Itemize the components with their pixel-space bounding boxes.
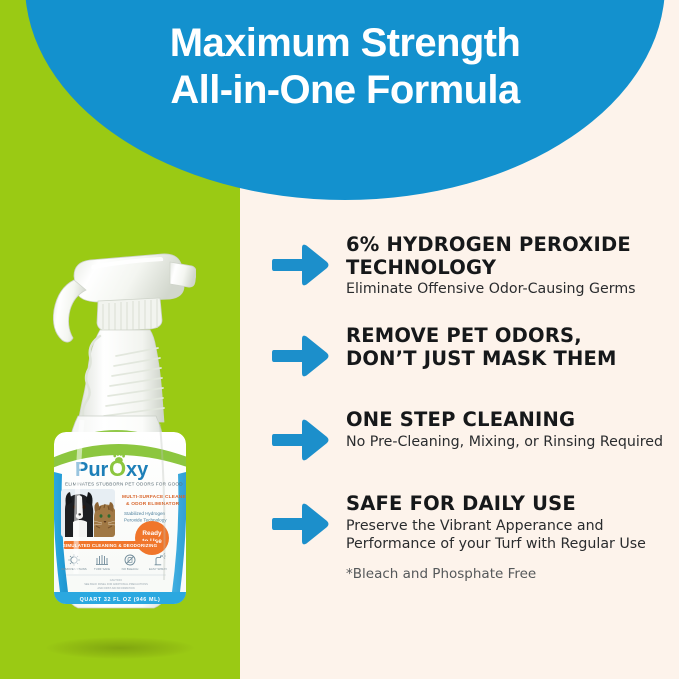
feature-heading-cont: TECHNOLOGY <box>346 257 672 280</box>
feature-heading: REMOVE PET ODORS, <box>346 325 672 348</box>
product-label: Pur O xy ELIMINATES STUBBORN PET ODORS F… <box>52 432 190 606</box>
feature-heading: 6% HYDROGEN PEROXIDE <box>346 234 672 257</box>
label-subtitle-line2: & ODOR ELIMINATOR <box>126 501 180 507</box>
feature-subtext: Eliminate Offensive Odor-Causing Germs <box>346 281 672 299</box>
feature-heading: ONE STEP CLEANING <box>346 409 672 432</box>
feature-heading-cont: DON’T JUST MASK THEM <box>346 348 672 371</box>
brand-text-xy: xy <box>126 459 149 481</box>
spray-trigger-head <box>53 254 196 342</box>
svg-text:AND FIRST AID INFORMATION: AND FIRST AID INFORMATION <box>97 586 134 590</box>
arrow-right-icon <box>272 493 334 547</box>
label-tech-line1: Stabilized Hydrogen <box>124 511 166 516</box>
label-tagline: ELIMINATES STUBBORN PET ODORS FOR GOOD <box>65 482 183 487</box>
label-tech-line2: Peroxide Technology <box>124 518 167 523</box>
feature-label-1: TURF SAFE <box>94 567 110 571</box>
dog-and-cat-photo <box>61 489 115 537</box>
feature-label-2: NO BLEACH <box>122 567 139 571</box>
features-list: 6% HYDROGEN PEROXIDE TECHNOLOGY Eliminat… <box>272 234 672 582</box>
header-title-block: Maximum Strength All-in-One Formula <box>25 0 665 200</box>
svg-text:SEE BACK PANEL FOR ADDITIONAL: SEE BACK PANEL FOR ADDITIONAL PRECAUTION… <box>84 582 148 586</box>
badge-line1: Ready <box>142 530 162 537</box>
bottle-shadow <box>46 637 194 659</box>
arrow-right-icon <box>272 234 334 288</box>
feature-item-1: REMOVE PET ODORS, DON’T JUST MASK THEM <box>272 325 672 379</box>
header-title-line1: Maximum Strength <box>170 20 520 67</box>
label-subtitle-line1: MULTI-SURFACE CLEANER <box>122 494 190 500</box>
cat-illustration <box>94 502 115 537</box>
feature-item-0: 6% HYDROGEN PEROXIDE TECHNOLOGY Eliminat… <box>272 234 672 299</box>
arrow-right-icon <box>272 409 334 463</box>
feature-heading: SAFE FOR DAILY USE <box>346 493 672 516</box>
footnote-text: *Bleach and Phosphate Free <box>272 566 672 582</box>
product-bottle: Pur O xy ELIMINATES STUBBORN PET ODORS F… <box>44 244 196 636</box>
bottle-shoulder <box>78 330 164 422</box>
feature-subtext: No Pre-Cleaning, Mixing, or Rinsing Requ… <box>346 434 672 452</box>
infographic-canvas: Maximum Strength All-in-One Formula <box>0 0 679 679</box>
feature-item-2: ONE STEP CLEANING No Pre-Cleaning, Mixin… <box>272 409 672 463</box>
label-volume-text: QUART 32 FL OZ (946 ML) <box>80 597 161 603</box>
svg-text:CAUTION:: CAUTION: <box>110 578 123 582</box>
feature-item-3: SAFE FOR DAILY USE Preserve the Vibrant … <box>272 493 672 553</box>
feature-subtext: Preserve the Vibrant Apperance and Perfo… <box>346 518 672 554</box>
header-title-line2: All-in-One Formula <box>170 67 519 114</box>
arrow-right-icon <box>272 325 334 379</box>
